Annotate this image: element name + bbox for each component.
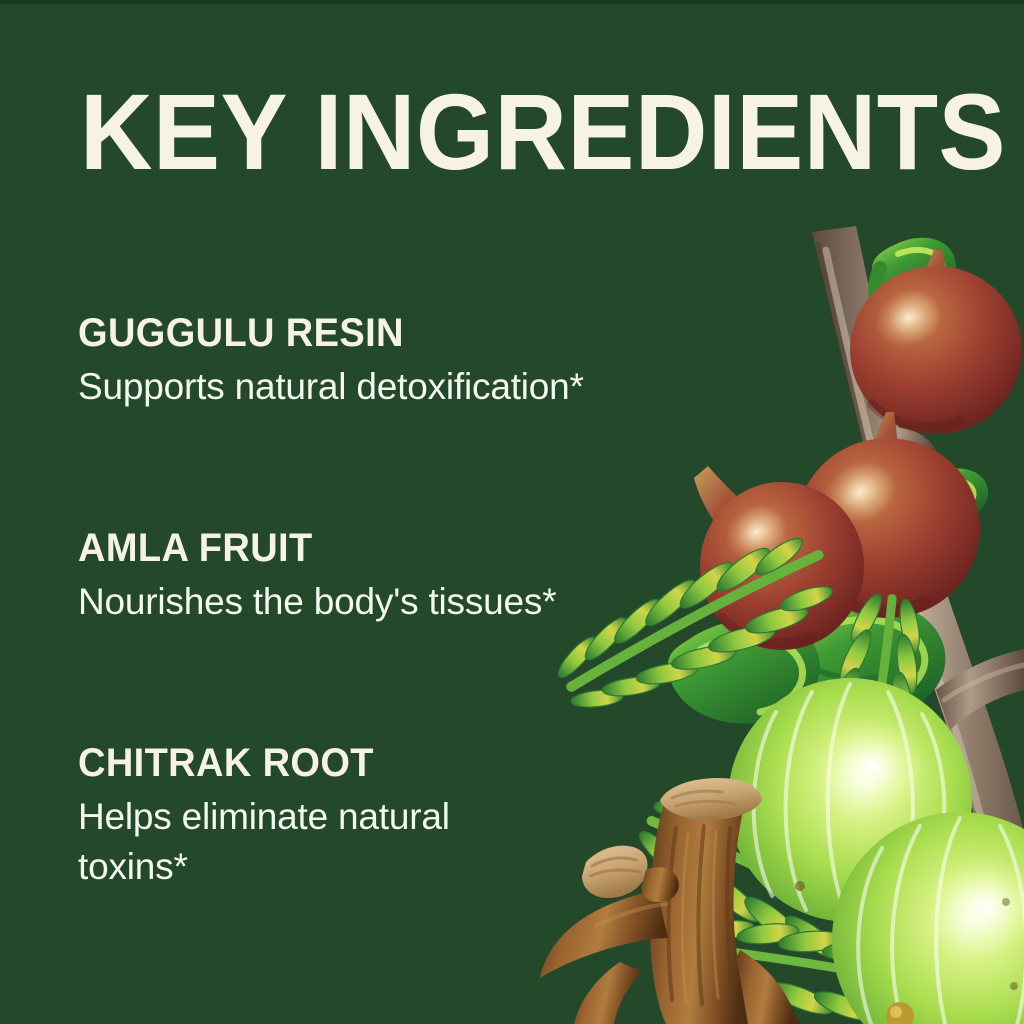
- ingredient-item-guggulu: GUGGULU RESIN Supports natural detoxific…: [78, 310, 678, 412]
- ingredient-description: Nourishes the body's tissues*: [78, 577, 598, 627]
- ingredient-name: AMLA FRUIT: [78, 525, 648, 571]
- ingredient-description: Supports natural detoxification*: [78, 362, 598, 412]
- page-title: KEY INGREDIENTS: [80, 78, 1006, 186]
- key-ingredients-panel: KEY INGREDIENTS GUGGULU RESIN Supports n…: [0, 0, 1024, 1024]
- text-layer: KEY INGREDIENTS GUGGULU RESIN Supports n…: [0, 0, 1024, 1024]
- ingredient-item-amla: AMLA FRUIT Nourishes the body's tissues*: [78, 525, 678, 627]
- ingredient-name: GUGGULU RESIN: [78, 310, 648, 356]
- ingredient-item-chitrak: CHITRAK ROOT Helps eliminate natural tox…: [78, 740, 678, 892]
- ingredient-name: CHITRAK ROOT: [78, 740, 648, 786]
- top-edge-line: [0, 0, 1024, 4]
- ingredient-description: Helps eliminate natural toxins*: [78, 792, 548, 892]
